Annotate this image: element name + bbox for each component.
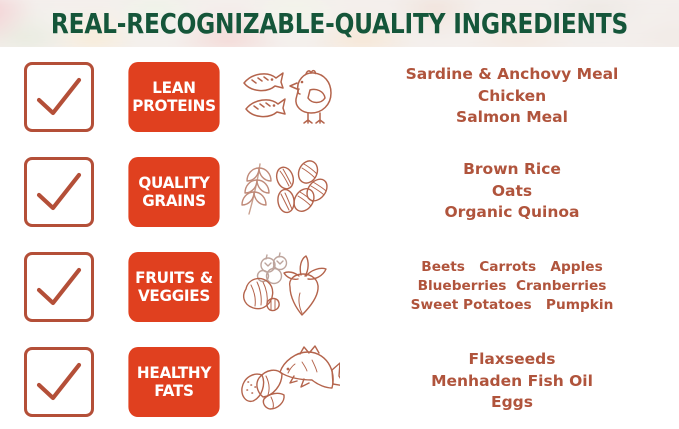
ingredient-list: Beets Carrots Apples Blueberries Cranber…: [345, 258, 679, 315]
badge-line-1: LEAN: [152, 79, 195, 96]
badge-line-1: HEALTHY: [137, 364, 211, 381]
badge-line-2: GRAINS: [142, 192, 206, 209]
badge-line-2: VEGGIES: [138, 287, 210, 304]
checkbox[interactable]: [24, 62, 94, 132]
ingredient-item: Beets Carrots Apples: [421, 258, 602, 277]
ingredient-item: Sardine & Anchovy Meal: [406, 64, 619, 85]
badge-line-1: QUALITY: [138, 174, 209, 191]
ingredient-list: Sardine & Anchovy Meal Chicken Salmon Me…: [345, 64, 679, 128]
sweet-potato-blueberries-beet-icon: [238, 249, 338, 324]
checkbox[interactable]: [24, 252, 94, 322]
ingredient-row: LEAN PROTEINS: [0, 49, 679, 144]
ingredient-row: HEALTHY FATS: [0, 334, 679, 429]
category-badge[interactable]: LEAN PROTEINS: [128, 62, 219, 132]
checkbox[interactable]: [24, 157, 94, 227]
ingredient-item: Chicken: [478, 86, 546, 107]
category-badge[interactable]: FRUITS & VEGGIES: [128, 252, 219, 322]
checkbox[interactable]: [24, 347, 94, 417]
checkbox-cell: [0, 347, 118, 417]
ingredient-item: Oats: [492, 181, 532, 202]
ingredient-list: Brown Rice Oats Organic Quinoa: [345, 159, 679, 223]
badge-line-2: FATS: [154, 382, 193, 399]
badge-cell: HEALTHY FATS: [118, 347, 230, 417]
checkbox-cell: [0, 157, 118, 227]
badge-cell: QUALITY GRAINS: [118, 157, 230, 227]
illustration-cell: [230, 156, 345, 227]
ingredient-item: Flaxseeds: [469, 349, 556, 370]
ingredient-item: Blueberries Cranberries: [418, 277, 607, 296]
checkbox-cell: [0, 62, 118, 132]
category-badge[interactable]: HEALTHY FATS: [128, 347, 219, 417]
ingredient-rows: LEAN PROTEINS: [0, 47, 679, 429]
ingredient-list: Flaxseeds Menhaden Fish Oil Eggs: [345, 349, 679, 413]
fish-and-chicken-icon: [238, 61, 338, 132]
ingredient-item: Brown Rice: [463, 159, 561, 180]
illustration-cell: [230, 344, 345, 419]
badge-cell: LEAN PROTEINS: [118, 62, 230, 132]
ingredient-item: Eggs: [491, 392, 533, 413]
wheat-and-grains-icon: [238, 156, 338, 227]
illustration-cell: [230, 61, 345, 132]
ingredient-row: QUALITY GRAINS: [0, 144, 679, 239]
badge-cell: FRUITS & VEGGIES: [118, 252, 230, 322]
badge-line-1: FRUITS &: [135, 269, 213, 286]
checkbox-cell: [0, 252, 118, 322]
ingredient-item: Organic Quinoa: [445, 202, 580, 223]
category-badge[interactable]: QUALITY GRAINS: [128, 157, 219, 227]
badge-line-2: PROTEINS: [132, 97, 216, 114]
header-banner: REAL-RECOGNIZABLE-QUALITY INGREDIENTS: [0, 0, 679, 47]
page-title: REAL-RECOGNIZABLE-QUALITY INGREDIENTS: [20, 0, 658, 47]
ingredient-item: Salmon Meal: [456, 107, 568, 128]
ingredient-item: Sweet Potatoes Pumpkin: [411, 296, 614, 315]
ingredient-row: FRUITS & VEGGIES: [0, 239, 679, 334]
ingredient-item: Menhaden Fish Oil: [431, 371, 593, 392]
flaxseeds-and-fish-icon: [236, 344, 340, 419]
illustration-cell: [230, 249, 345, 324]
